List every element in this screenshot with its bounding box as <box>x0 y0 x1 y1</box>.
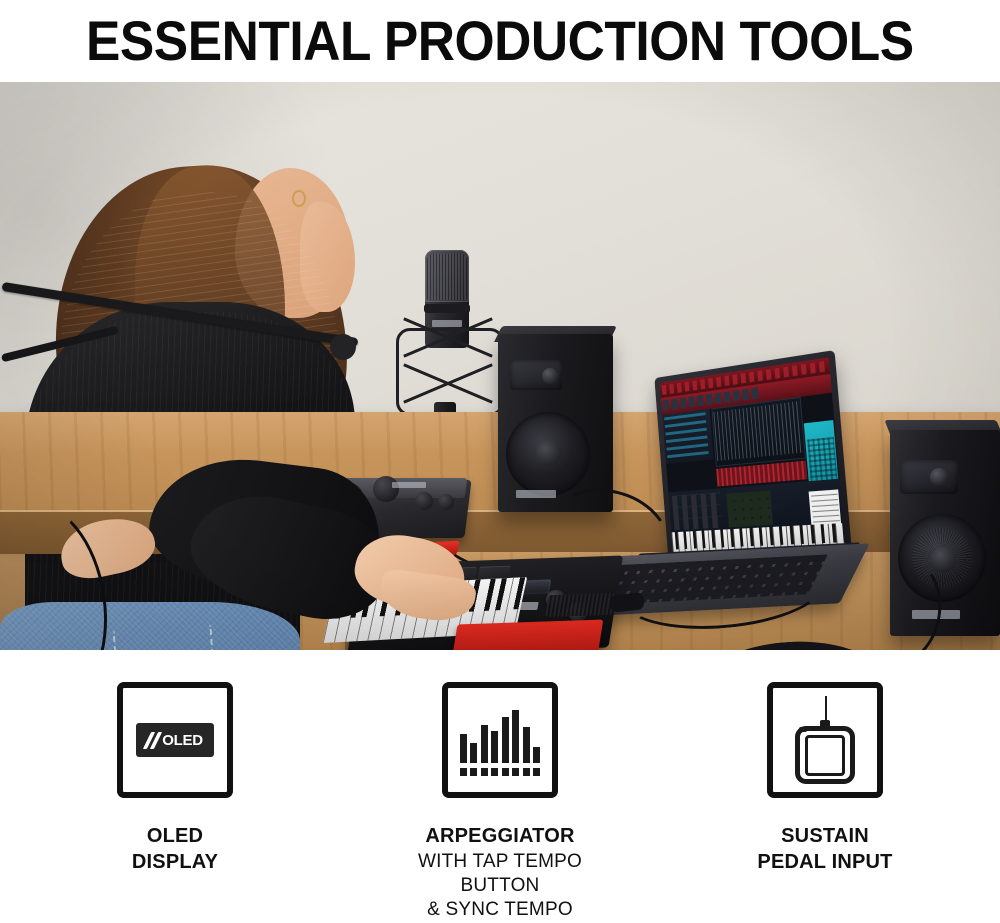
feature-subtitle: PEDAL INPUT <box>757 850 892 876</box>
page-title: ESSENTIAL PRODUCTION TOOLS <box>86 13 914 69</box>
equalizer-square <box>533 768 540 776</box>
header-band: ESSENTIAL PRODUCTION TOOLS <box>0 0 1000 82</box>
equalizer-bar <box>470 743 477 763</box>
equalizer-bar <box>502 717 509 763</box>
pedal-body <box>795 726 855 784</box>
equalizer-square <box>460 768 467 776</box>
feature-title: SUSTAIN <box>757 824 892 850</box>
equalizer-bars <box>460 707 540 763</box>
equalizer-square <box>470 768 477 776</box>
equalizer-bar <box>533 747 540 763</box>
oled-panel: OLED <box>136 723 214 757</box>
equalizer-bar <box>481 725 488 763</box>
feature-caption: OLED DISPLAY <box>132 824 218 875</box>
pedal-plug <box>820 720 830 729</box>
feature-subtitle: DISPLAY <box>132 850 218 876</box>
arpeggiator-equalizer-icon <box>442 682 558 798</box>
equalizer-bar <box>491 731 498 763</box>
equalizer-bar <box>460 734 467 763</box>
pedal-graphic <box>785 696 865 784</box>
equalizer-square <box>502 768 509 776</box>
feature-row: OLED OLED DISPLAY <box>0 650 1000 919</box>
equalizer-base-squares <box>460 768 540 776</box>
oled-display-icon: OLED <box>117 682 233 798</box>
feature-arpeggiator: ARPEGGIATOR WITH TAP TEMPO BUTTON & SYNC… <box>393 682 608 923</box>
feature-sustain-pedal: SUSTAIN PEDAL INPUT <box>718 682 933 875</box>
pedal-inner-plate <box>805 735 845 776</box>
feature-oled-display: OLED OLED DISPLAY <box>68 682 283 875</box>
equalizer-bar <box>523 727 530 763</box>
feature-subtitle: WITH TAP TEMPO BUTTON <box>393 850 608 899</box>
pedal-cable <box>825 696 827 722</box>
equalizer-square <box>481 768 488 776</box>
feature-caption: SUSTAIN PEDAL INPUT <box>757 824 892 875</box>
feature-caption: ARPEGGIATOR WITH TAP TEMPO BUTTON & SYNC… <box>393 824 608 923</box>
oled-slash-icon <box>147 732 158 749</box>
equalizer-square <box>512 768 519 776</box>
lifestyle-photo <box>0 82 1000 650</box>
equalizer-square <box>523 768 530 776</box>
equalizer-bar <box>512 710 519 763</box>
equalizer-square <box>491 768 498 776</box>
pedal-nub <box>799 727 807 732</box>
oled-icon-label: OLED <box>162 732 202 749</box>
photo-vignette <box>0 82 1000 650</box>
feature-title: OLED <box>132 824 218 850</box>
equalizer-graphic <box>460 704 540 776</box>
product-feature-page: ESSENTIAL PRODUCTION TOOLS <box>0 0 1000 919</box>
sustain-pedal-icon <box>767 682 883 798</box>
feature-title: ARPEGGIATOR <box>393 824 608 850</box>
